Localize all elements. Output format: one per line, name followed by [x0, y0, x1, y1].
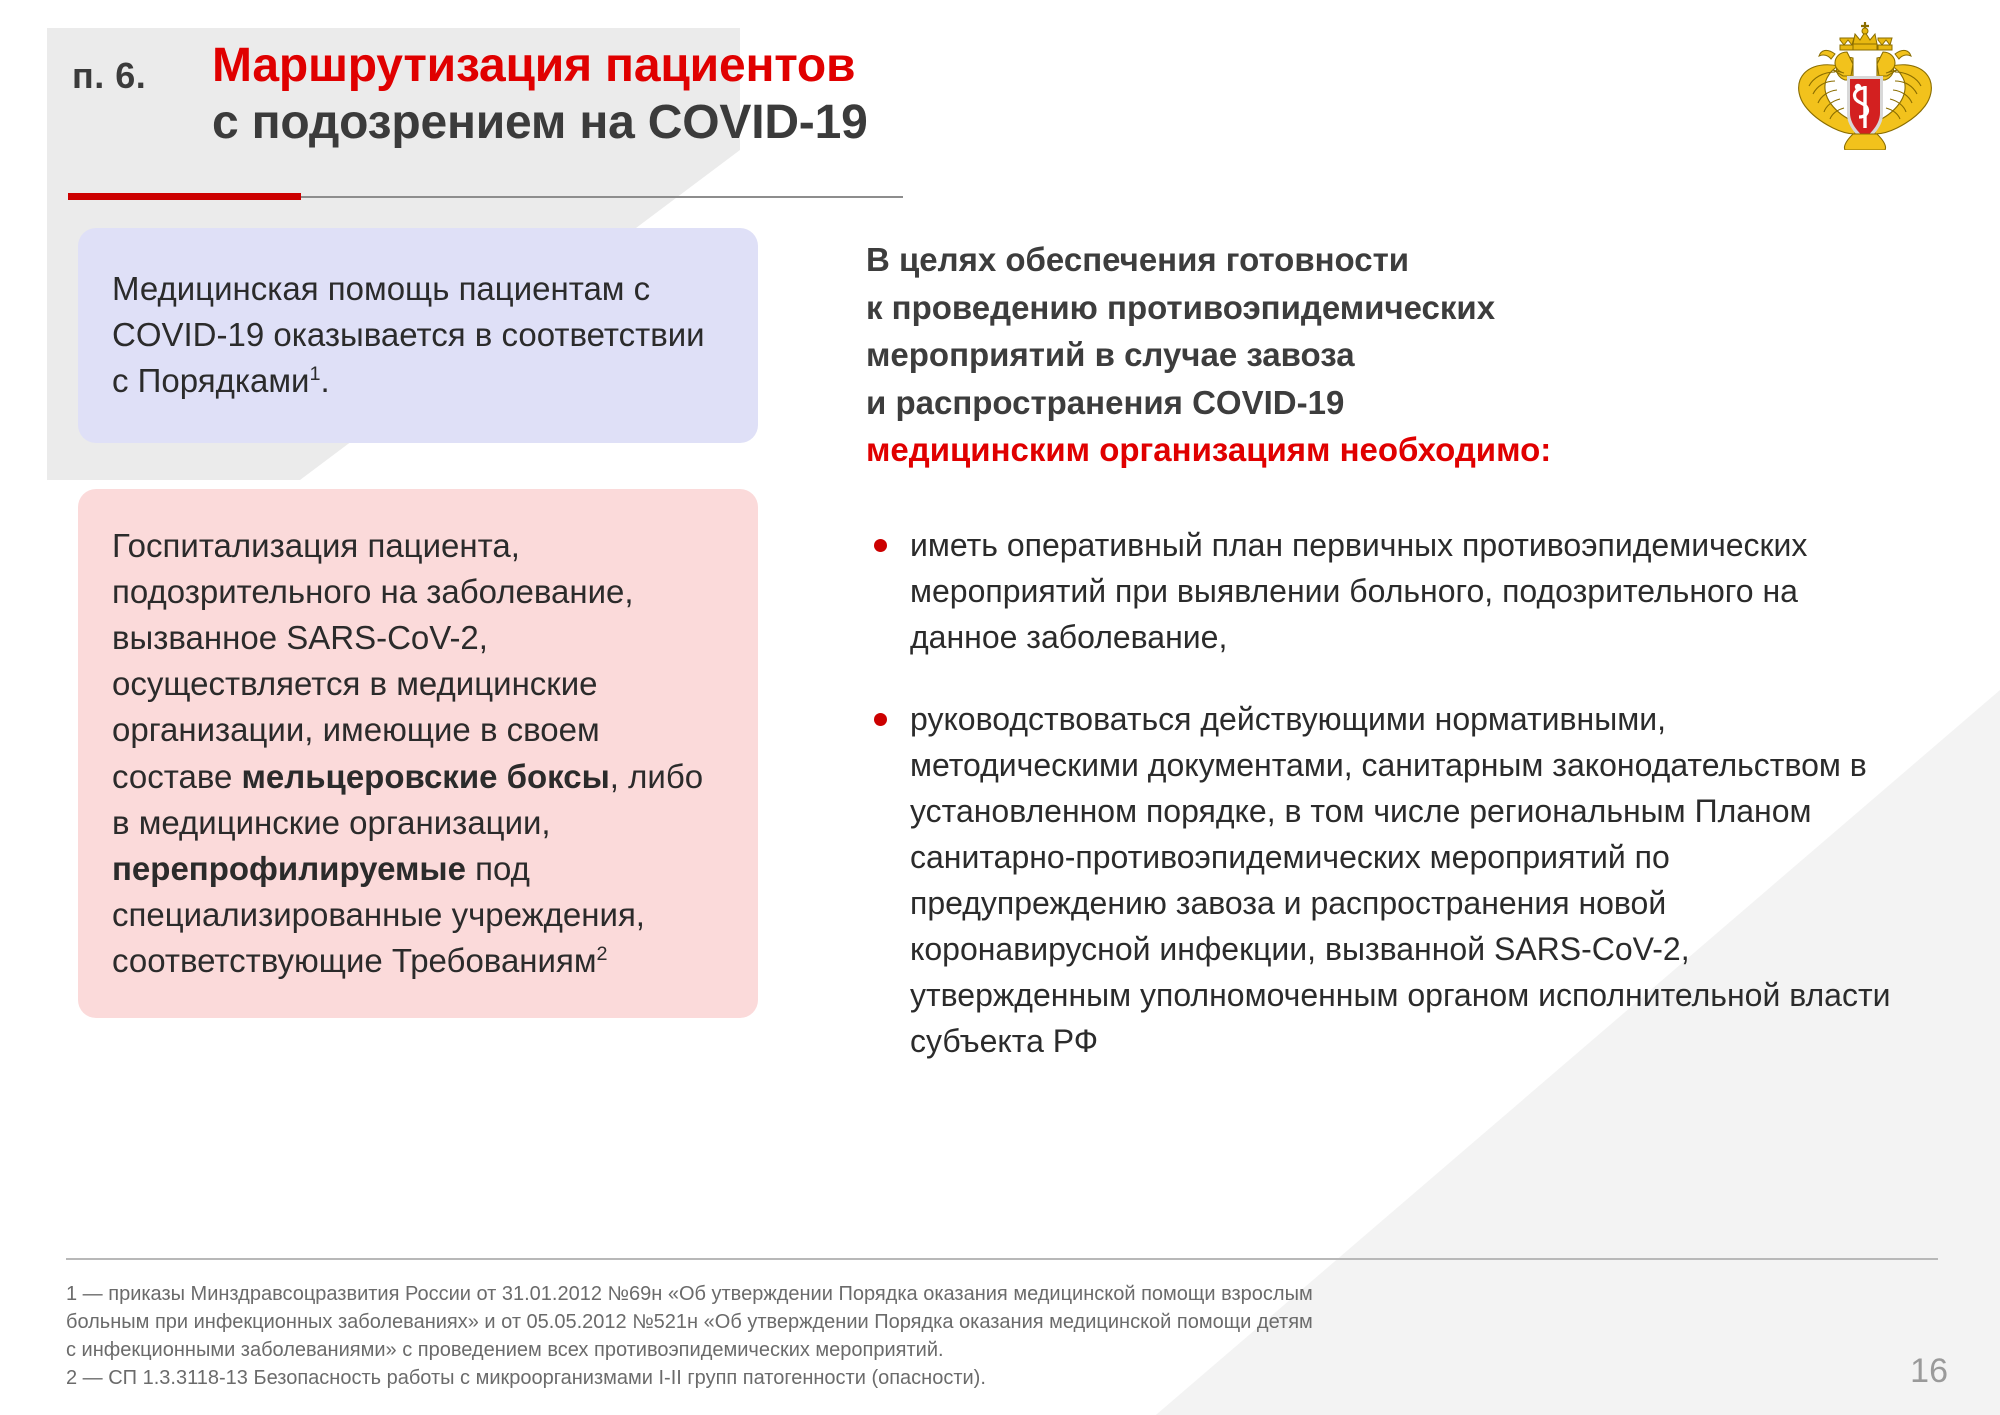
page-title: Маршрутизация пациентов с подозрением на…	[212, 38, 1752, 151]
blue-card-text-part1: Медицинская помощь пациентам с COVID-19 …	[112, 270, 705, 399]
list-item: руководствоваться действующими нормативн…	[866, 696, 1896, 1065]
pink-card-text-part1: Госпитализация пациента, подозрительного…	[112, 527, 634, 795]
title-underline-gray-segment	[301, 196, 903, 198]
page-number: 16	[1910, 1352, 1948, 1391]
right-column: В целях обеспечения готовности к проведе…	[866, 236, 1896, 1100]
pink-card-footnote-marker: 2	[597, 943, 608, 965]
left-column: Медицинская помощь пациентам с COVID-19 …	[78, 228, 758, 1018]
page-title-line-2: с подозрением на COVID-19	[212, 95, 1752, 152]
footer-divider	[66, 1258, 1938, 1260]
list-item: иметь оперативный план первичных противо…	[866, 522, 1896, 660]
requirements-bullet-list: иметь оперативный план первичных противо…	[866, 522, 1896, 1065]
pink-card-bold-repurposed: перепрофилируемые	[112, 850, 466, 887]
russian-health-ministry-eagle-emblem-icon	[1795, 18, 1935, 150]
right-heading-line-4: и распространения COVID-19	[866, 384, 1344, 421]
pink-card-text: Госпитализация пациента, подозрительного…	[112, 523, 722, 985]
slide-item-number: п. 6.	[72, 55, 146, 97]
footnote-line-1: 1 — приказы Минздравсоцразвития России о…	[66, 1280, 1766, 1308]
right-column-heading: В целях обеспечения готовности к проведе…	[866, 236, 1896, 474]
right-heading-accent-line: медицинским организациям необходимо:	[866, 431, 1551, 468]
right-heading-line-2: к проведению противоэпидемических	[866, 289, 1495, 326]
footnote-line-2: больным при инфекционных заболеваниях» и…	[66, 1308, 1766, 1336]
page-title-line-1: Маршрутизация пациентов	[212, 38, 1752, 95]
pink-card-bold-melzer-boxes: мельцеровские боксы	[242, 758, 610, 795]
slide-root: п. 6. Маршрутизация пациентов с подозрен…	[0, 0, 2000, 1415]
slide-header: п. 6. Маршрутизация пациентов с подозрен…	[0, 0, 2000, 215]
footnote-line-4: 2 — СП 1.3.3118-13 Безопасность работы с…	[66, 1364, 1766, 1392]
blue-card-footnote-marker: 1	[309, 363, 320, 385]
right-heading-line-1: В целях обеспечения готовности	[866, 241, 1409, 278]
blue-card-text: Медицинская помощь пациентам с COVID-19 …	[112, 266, 722, 405]
footnote-line-3: с инфекционными заболеваниями» с проведе…	[66, 1336, 1766, 1364]
blue-card-text-part2: .	[321, 362, 330, 399]
info-card-blue: Медицинская помощь пациентам с COVID-19 …	[78, 228, 758, 443]
right-heading-line-3: мероприятий в случае завоза	[866, 336, 1355, 373]
title-underline	[68, 193, 903, 201]
footnotes-block: 1 — приказы Минздравсоцразвития России о…	[66, 1280, 1766, 1392]
title-underline-red-segment	[68, 193, 301, 200]
info-card-pink: Госпитализация пациента, подозрительного…	[78, 489, 758, 1019]
